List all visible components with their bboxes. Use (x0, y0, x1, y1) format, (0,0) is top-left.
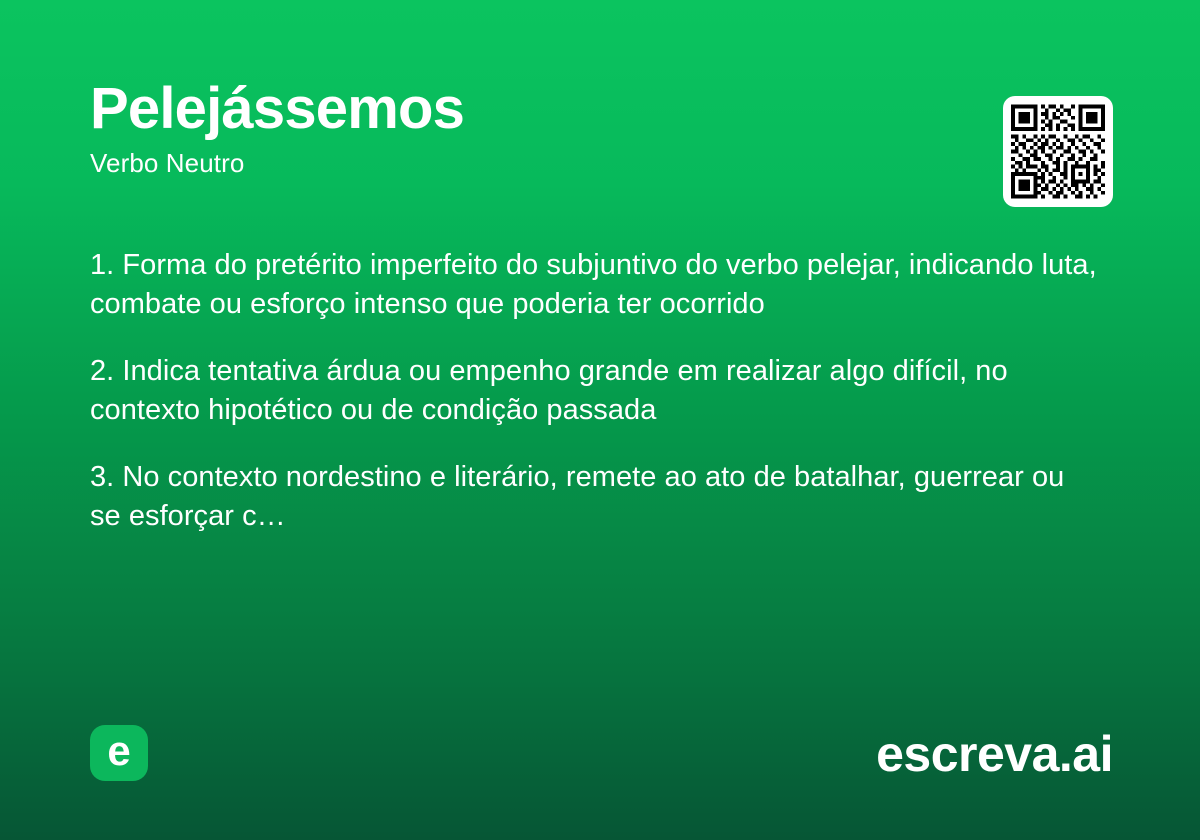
qr-code-icon[interactable] (1003, 96, 1113, 207)
logo-letter: e (107, 730, 130, 772)
definition-item-1: 1. Forma do pretérito imperfeito do subj… (90, 246, 1102, 323)
brand-wordmark: escreva.ai (876, 728, 1113, 780)
page-title: Pelejássemos (90, 78, 1110, 140)
word-class-label: Verbo Neutro (90, 148, 1110, 178)
definition-item-3: 3. No contexto nordestino e literário, r… (90, 458, 1102, 535)
escreva-logo-icon: e (90, 725, 148, 781)
card-header: Pelejássemos Verbo Neutro (90, 78, 1110, 178)
definition-item-2: 2. Indica tentativa árdua ou empenho gra… (90, 352, 1102, 429)
definition-list: 1. Forma do pretérito imperfeito do subj… (90, 246, 1102, 535)
card-footer: e escreva.ai (90, 724, 1113, 782)
social-card: Pelejássemos Verbo Neutro (0, 0, 1200, 840)
